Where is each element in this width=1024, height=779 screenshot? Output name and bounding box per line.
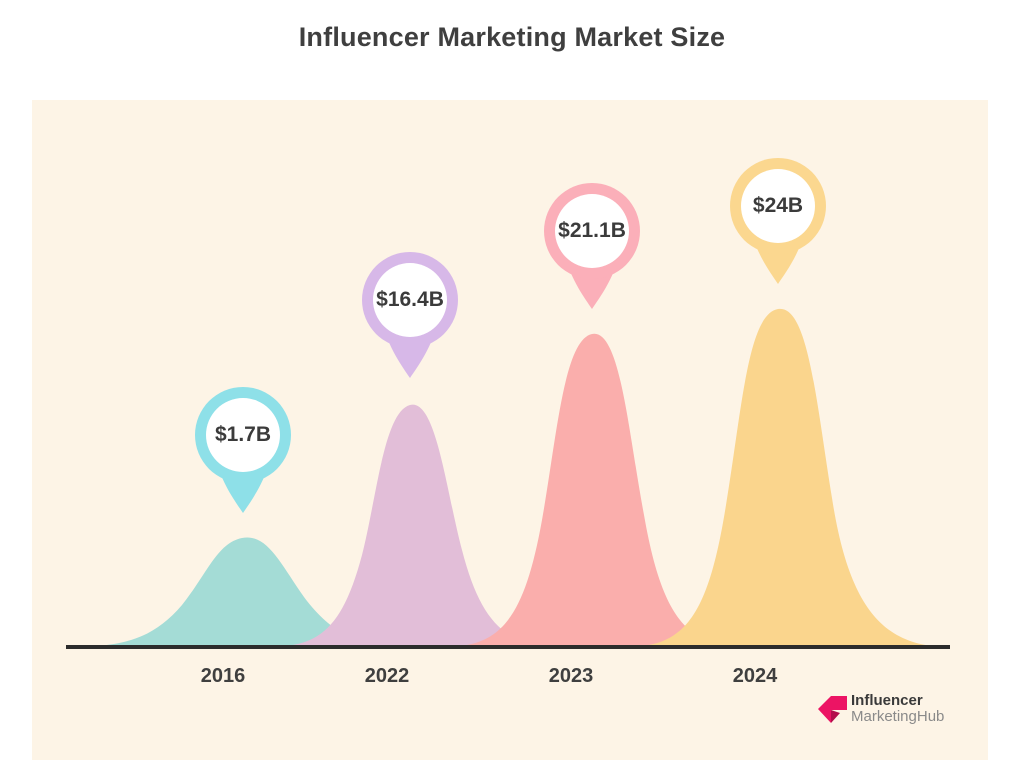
value-pin-2023: $21.1B bbox=[544, 183, 640, 313]
brand-logo-line2: MarketingHub bbox=[851, 709, 944, 725]
pin-inner-circle: $16.4B bbox=[373, 263, 447, 337]
pin-head: $21.1B bbox=[544, 183, 640, 279]
pin-value-label: $16.4B bbox=[376, 288, 444, 312]
pin-head: $1.7B bbox=[195, 387, 291, 483]
value-pin-2024: $24B bbox=[730, 158, 826, 288]
pin-value-label: $24B bbox=[753, 194, 803, 218]
x-tick-label-2024: 2024 bbox=[695, 665, 815, 688]
brand-logo: Influencer MarketingHub bbox=[818, 686, 963, 732]
pin-value-label: $1.7B bbox=[215, 423, 271, 447]
pin-inner-circle: $1.7B bbox=[206, 398, 280, 472]
pin-head: $24B bbox=[730, 158, 826, 254]
page-title: Influencer Marketing Market Size bbox=[0, 22, 1024, 53]
x-axis-line bbox=[66, 645, 950, 649]
influencer-marketing-hub-arrow-icon bbox=[818, 693, 848, 725]
value-pin-2016: $1.7B bbox=[195, 387, 291, 517]
value-pin-2022: $16.4B bbox=[362, 252, 458, 382]
pin-inner-circle: $24B bbox=[741, 169, 815, 243]
distribution-curves bbox=[32, 100, 988, 760]
pin-value-label: $21.1B bbox=[558, 219, 626, 243]
chart-plot-area: $1.7B $16.4B $21.1B bbox=[32, 100, 988, 760]
chart-panel: $1.7B $16.4B $21.1B bbox=[32, 100, 988, 760]
pin-inner-circle: $21.1B bbox=[555, 194, 629, 268]
curve-2024 bbox=[626, 309, 950, 647]
curve-2023 bbox=[444, 334, 744, 647]
x-tick-label-2016: 2016 bbox=[163, 665, 283, 688]
brand-logo-line1: Influencer bbox=[851, 693, 944, 709]
pin-head: $16.4B bbox=[362, 252, 458, 348]
x-tick-label-2023: 2023 bbox=[511, 665, 631, 688]
brand-logo-text: Influencer MarketingHub bbox=[851, 693, 944, 725]
x-tick-label-2022: 2022 bbox=[327, 665, 447, 688]
